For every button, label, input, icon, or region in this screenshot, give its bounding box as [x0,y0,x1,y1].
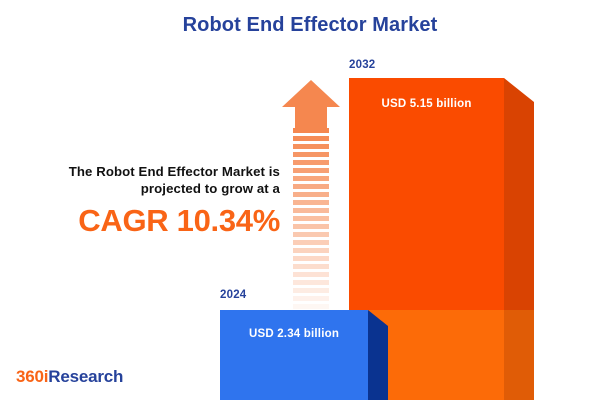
cagr-statement: The Robot End Effector Market is project… [16,163,280,238]
bar-value-2032: USD 5.15 billion [349,98,504,110]
bar-2024 [220,310,388,400]
arrow-stripe [293,168,329,173]
arrow-stripe [293,288,329,293]
arrow-stripe [293,296,329,301]
arrow-stripe [293,304,329,309]
bar-2024-front-face [220,310,368,400]
arrow-stripe [293,240,329,245]
arrow-stripe [293,136,329,141]
arrow-stripe [293,272,329,277]
arrow-stripe-stack [293,128,329,295]
logo-prefix: 360i [16,367,48,386]
infographic-canvas: Robot End Effector Market The Robot End … [0,0,600,400]
arrow-stripe [293,256,329,261]
statement-line-1: The Robot End Effector Market is [16,163,280,180]
arrow-stripe [293,224,329,229]
bar-2032-side-lower-face [504,310,534,400]
arrow-stripe [293,216,329,221]
bar-label-2032: 2032 [349,59,375,71]
arrow-stripe [293,176,329,181]
bar-value-2024: USD 2.34 billion [220,328,368,340]
arrow-stripe [293,152,329,157]
arrow-head-icon [282,80,340,128]
arrow-stripe [293,192,329,197]
statement-line-2: projected to grow at a [16,180,280,197]
brand-logo: 360iResearch [16,367,123,387]
arrow-stripe [293,184,329,189]
arrow-stripe [293,264,329,269]
logo-suffix: Research [48,367,123,386]
arrow-stripe [293,208,329,213]
bar-2024-side-face [368,310,388,400]
arrow-stripe [293,144,329,149]
bar-label-2024: 2024 [220,289,246,301]
arrow-stripe [293,280,329,285]
arrow-stripe [293,128,329,133]
page-title: Robot End Effector Market [0,14,600,37]
arrow-stripe [293,248,329,253]
cagr-value: CAGR 10.34% [16,204,280,238]
arrow-stripe [293,200,329,205]
arrow-stripe [293,160,329,165]
arrow-stripe [293,232,329,237]
growth-arrow [282,80,340,295]
